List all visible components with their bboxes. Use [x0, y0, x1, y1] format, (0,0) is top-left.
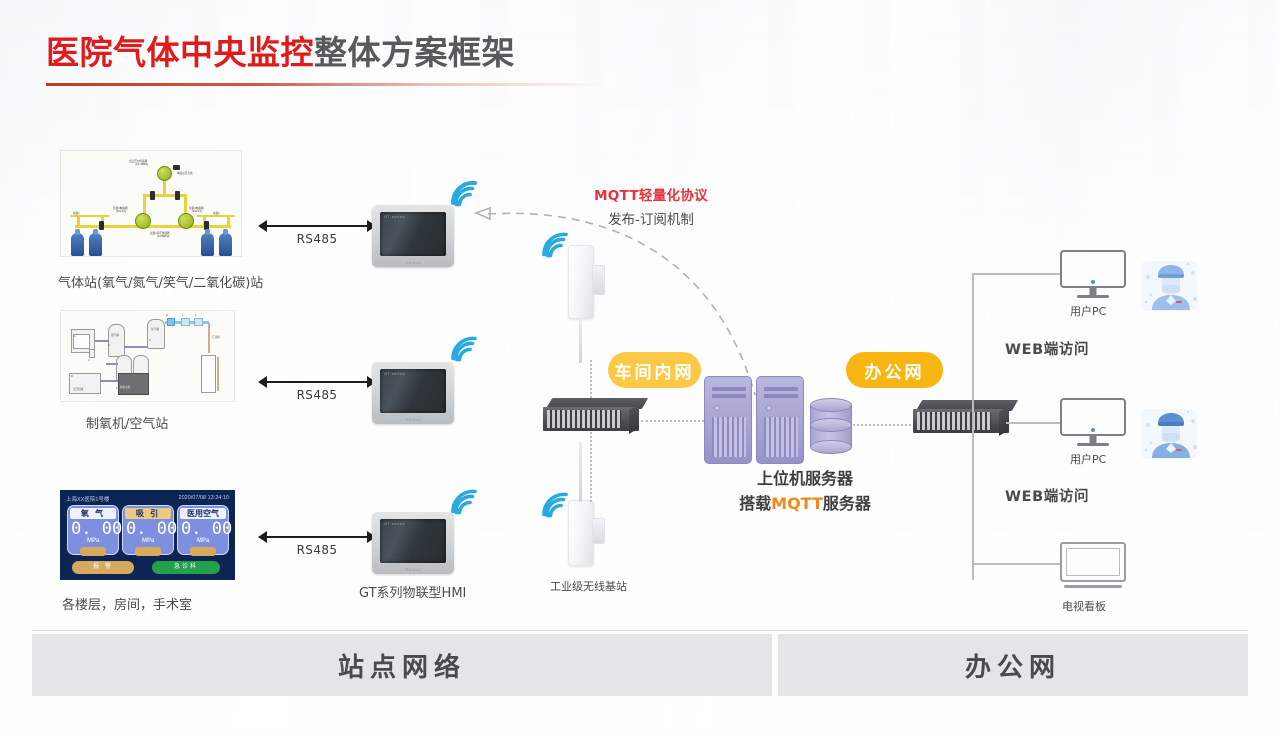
arrow-shaft [266, 381, 368, 383]
tv-dashboard-label: 电视看板 [1062, 598, 1106, 614]
wifi-icon [449, 489, 479, 515]
hmi-device-brand: GT series [384, 214, 405, 219]
gauge-name: 吸 引 [125, 508, 171, 519]
zone-divider [32, 630, 1248, 631]
title-underline [46, 83, 606, 86]
page-header: 医院气体中央监控整体方案框架 [46, 26, 606, 86]
wireless-base-station-top[interactable] [568, 245, 608, 365]
monitor-base [1077, 295, 1109, 298]
gas-station-schematic: 出口压力传感器 (0-1.6MPa) 电接点压力表 氧组1电磁阀 (24V,1A… [60, 150, 242, 257]
rs485-link-3: RS485 [258, 530, 376, 558]
wifi-icon [540, 492, 570, 518]
hmi-device-foot-brand: ITecnic [405, 417, 422, 422]
ap-mount [592, 518, 605, 544]
arrow-shaft [266, 225, 368, 227]
gauge-value: 0. 00 [126, 519, 177, 539]
zone-label-office-network: 办公网 [778, 634, 1248, 696]
mqtt-mechanism-label: 发布-订阅机制 [566, 208, 736, 228]
ap-pole [579, 317, 582, 363]
office-bus-vertical [972, 273, 974, 580]
server-caption-line2: 搭载MQTT服务器 [690, 491, 920, 516]
rs485-link-2: RS485 [258, 375, 376, 403]
rs485-label: RS485 [258, 388, 376, 402]
ap-pole [579, 442, 582, 502]
tv-dashboard[interactable] [1060, 542, 1126, 592]
gauge-unit: MPa [142, 538, 154, 544]
gauge-switch [190, 547, 216, 556]
server-caption-mqtt: MQTT [771, 494, 823, 513]
switch-ports [917, 412, 991, 430]
gauge-name: 医用空气 [180, 508, 226, 519]
db-top [810, 398, 852, 412]
hmi-device-1[interactable]: GT series ITecnic [372, 205, 454, 267]
doctor-avatar-icon [1140, 255, 1202, 313]
gauge-unit: MPa [87, 538, 99, 544]
server-blade-right [756, 376, 804, 464]
page-title-highlight: 医院气体中央监控 [46, 33, 314, 72]
oxygen-plant-caption: 制氧机/空气站 [86, 413, 168, 432]
server-caption-line1: 上位机服务器 [690, 466, 920, 491]
db-bottom [810, 440, 852, 454]
server-to-office-line [853, 424, 915, 426]
monitor-base [1077, 443, 1109, 446]
hmi-device-brand: GT series [384, 371, 405, 376]
mqtt-annotation: MQTT轻量化协议 发布-订阅机制 [566, 184, 736, 228]
ap-mount [592, 265, 605, 295]
host-server[interactable] [704, 376, 824, 468]
ap-body [568, 245, 594, 319]
server-caption-pre: 搭载 [739, 494, 771, 513]
hmi-device-foot-brand: ITecnic [405, 260, 422, 265]
mqtt-protocol-label: MQTT轻量化协议 [566, 184, 736, 204]
floor-rooms-caption: 各楼层，房间，手术室 [62, 594, 192, 613]
user-pc-monitor-1[interactable] [1060, 250, 1126, 300]
page-title: 医院气体中央监控整体方案框架 [46, 26, 606, 74]
gauge-unit: MPa [197, 538, 209, 544]
switch-to-server-line [641, 420, 704, 422]
ap-body [568, 500, 594, 566]
alarm-button[interactable]: 报 警 [72, 561, 134, 574]
wireless-base-station-bottom[interactable] [568, 500, 608, 620]
rs485-label: RS485 [258, 543, 376, 557]
hmi-screen-title: 上海XX医院1号楼 [66, 495, 109, 503]
server-caption: 上位机服务器 搭载MQTT服务器 [690, 466, 920, 516]
base-station-caption: 工业级无线基站 [550, 578, 627, 594]
hmi-device-caption: GT系列物联型HMI [359, 582, 466, 601]
doctor-avatar-icon [1140, 403, 1202, 461]
user-pc-monitor-2[interactable] [1060, 398, 1126, 448]
tv-screen [1060, 542, 1126, 582]
server-blade-left [704, 376, 752, 464]
hmi-screen-timestamp: 2020/07/08 13:24:10 [179, 495, 229, 501]
gauge-value: 0. 00 [71, 519, 122, 539]
gauge-value: 0. 00 [181, 519, 232, 539]
diagram-canvas: 医院气体中央监控整体方案框架 出口压力传感 [0, 0, 1280, 735]
office-bus-branch-1 [972, 273, 1060, 275]
tv-stand [1064, 585, 1122, 588]
rs485-label: RS485 [258, 232, 376, 246]
rs485-link-1: RS485 [258, 219, 376, 247]
hmi-device-foot-brand: ITecnic [405, 567, 422, 572]
wifi-icon [540, 232, 570, 258]
database-cylinder [810, 398, 852, 454]
office-network-switch[interactable] [913, 400, 1009, 436]
plant-network-badge: 车间内网 [608, 352, 701, 388]
office-bus-branch-2 [1006, 422, 1060, 424]
department-button[interactable]: 急诊科 [152, 561, 220, 574]
gauge-switch [135, 547, 161, 556]
user-pc-label-2: 用户PC [1070, 451, 1106, 467]
web-access-label-1: WEB端访问 [1005, 338, 1089, 359]
zone-label-site-network: 站点网络 [32, 634, 772, 696]
gauge-name: 氧 气 [70, 508, 116, 519]
gas-station-caption: 气体站(氧气/氮气/笑气/二氧化碳)站 [58, 272, 263, 291]
monitor-led [1091, 428, 1095, 432]
server-caption-post: 服务器 [823, 494, 871, 513]
switch-ports [547, 410, 621, 428]
web-access-label-2: WEB端访问 [1005, 485, 1089, 506]
floor-hmi-runtime-screen: 上海XX医院1号楼 2020/07/08 13:24:10 氧 气 0. 00 … [60, 490, 235, 580]
plant-network-switch[interactable] [543, 398, 639, 434]
oxygen-plant-schematic: A C D 空压机组 储气罐 E 氧气罐 G 制氧主机 F H I J 汇流排 [60, 310, 235, 402]
db-band [810, 418, 852, 432]
gauge-switch [80, 547, 106, 556]
hmi-device-brand: GT series [384, 521, 405, 526]
arrow-shaft [266, 536, 368, 538]
monitor-led [1091, 280, 1095, 284]
hmi-device-3[interactable]: GT series ITecnic [372, 512, 454, 574]
user-pc-label-1: 用户PC [1070, 303, 1106, 319]
hmi-device-2[interactable]: GT series ITecnic [372, 362, 454, 424]
office-network-badge: 办公网 [846, 352, 943, 388]
page-title-rest: 整体方案框架 [314, 33, 515, 72]
office-bus-branch-3 [972, 563, 1060, 565]
